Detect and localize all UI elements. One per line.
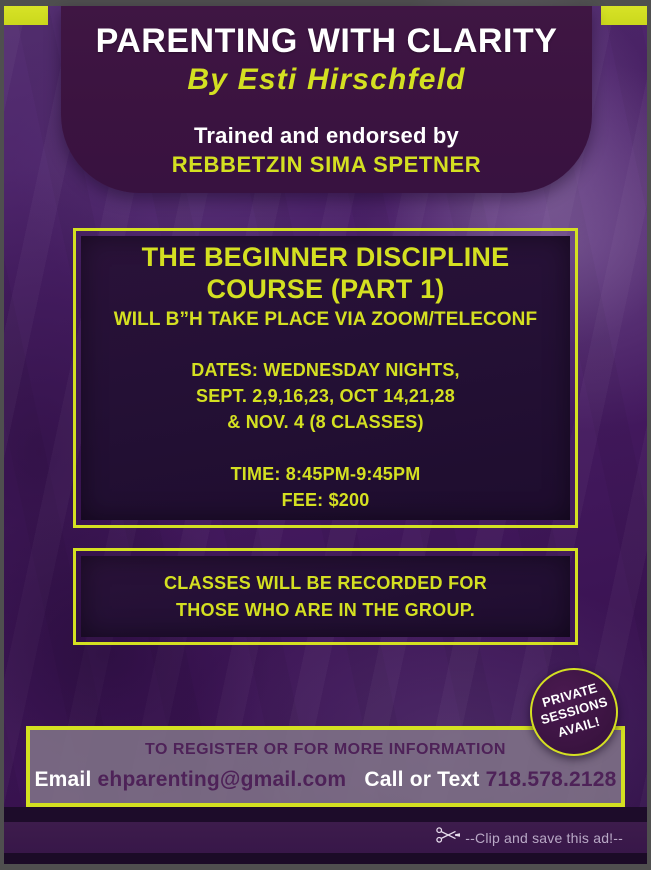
private-sessions-badge-text: PRIVATE SESSIONS AVAIL! xyxy=(534,679,614,745)
author-byline: By Esti Hirschfeld xyxy=(61,62,592,98)
course-title: THE BEGINNER DISCIPLINE COURSE (PART 1) xyxy=(142,242,510,305)
footer-divider-lower xyxy=(0,853,651,864)
footer-band: --Clip and save this ad!-- xyxy=(0,822,651,853)
flyer-canvas: PARENTING WITH CLARITY By Esti Hirschfel… xyxy=(0,0,651,870)
contact-details: Email ehparenting@gmail.com Call or Text… xyxy=(34,768,616,792)
phone-number[interactable]: 718.578.2128 xyxy=(486,768,617,791)
course-details-box: THE BEGINNER DISCIPLINE COURSE (PART 1) … xyxy=(73,228,578,528)
recording-notice-inner: CLASSES WILL BE RECORDED FOR THOSE WHO A… xyxy=(81,556,570,637)
footer-divider-upper xyxy=(0,807,651,822)
course-dates-line-3: & NOV. 4 (8 CLASSES) xyxy=(191,409,460,435)
page-title: PARENTING WITH CLARITY xyxy=(61,22,592,60)
scissors-icon xyxy=(436,827,462,848)
scan-edge-bottom xyxy=(0,864,651,870)
clip-and-save-text: --Clip and save this ad!-- xyxy=(465,830,623,846)
recording-notice-line-2: THOSE WHO ARE IN THE GROUP. xyxy=(164,597,487,623)
course-dates-line-2: SEPT. 2,9,16,23, OCT 14,21,28 xyxy=(191,383,460,409)
scan-edge-right xyxy=(647,0,651,870)
course-title-line-1: THE BEGINNER DISCIPLINE xyxy=(142,242,510,273)
contact-heading: TO REGISTER OR FOR MORE INFORMATION xyxy=(145,741,506,759)
top-accent-bar-right xyxy=(601,6,651,25)
contact-bar: TO REGISTER OR FOR MORE INFORMATION Emai… xyxy=(26,726,625,807)
course-title-line-2: COURSE (PART 1) xyxy=(142,274,510,305)
scan-edge-left xyxy=(0,0,4,870)
phone-label: Call or Text xyxy=(364,768,479,791)
course-platform-note: WILL B”H TAKE PLACE VIA ZOOM/TELECONF xyxy=(114,309,537,331)
recording-notice-line-1: CLASSES WILL BE RECORDED FOR xyxy=(164,570,487,596)
email-address[interactable]: ehparenting@gmail.com xyxy=(98,768,347,791)
recording-notice-box: CLASSES WILL BE RECORDED FOR THOSE WHO A… xyxy=(73,548,578,645)
course-dates-line-1: DATES: WEDNESDAY NIGHTS, xyxy=(191,357,460,383)
top-accent-bar-left xyxy=(0,6,48,25)
course-dates: DATES: WEDNESDAY NIGHTS, SEPT. 2,9,16,23… xyxy=(191,357,460,435)
recording-notice-text: CLASSES WILL BE RECORDED FOR THOSE WHO A… xyxy=(164,570,487,622)
endorsement-intro: Trained and endorsed by xyxy=(61,122,592,150)
header-block: PARENTING WITH CLARITY By Esti Hirschfel… xyxy=(61,6,592,193)
course-time-and-fee: TIME: 8:45PM-9:45PM FEE: $200 xyxy=(231,461,421,513)
course-time: TIME: 8:45PM-9:45PM xyxy=(231,461,421,487)
clip-and-save-group: --Clip and save this ad!-- xyxy=(436,827,623,848)
course-fee: FEE: $200 xyxy=(231,487,421,513)
private-sessions-badge: PRIVATE SESSIONS AVAIL! xyxy=(530,668,618,756)
email-label: Email xyxy=(34,768,91,791)
course-details-inner: THE BEGINNER DISCIPLINE COURSE (PART 1) … xyxy=(81,236,570,520)
endorsement-name: REBBETZIN SIMA SPETNER xyxy=(61,151,592,179)
